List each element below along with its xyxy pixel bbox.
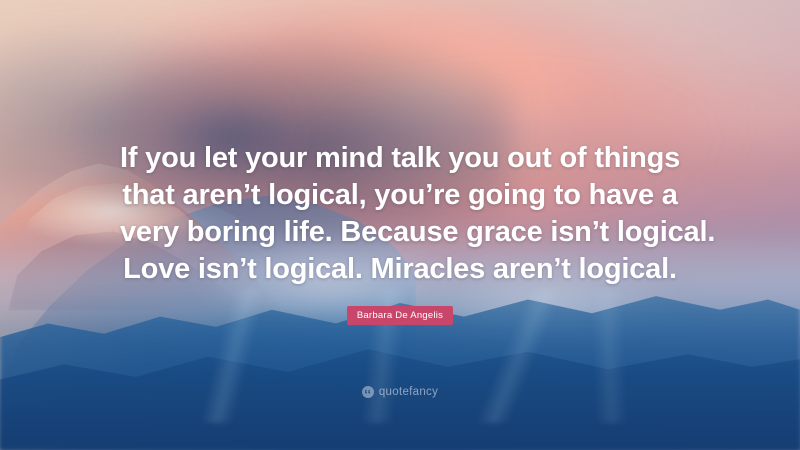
quote-line-4: Love isn’t logical. Miracles aren’t logi… (120, 251, 680, 288)
quote-line-2: that aren’t logical, you’re going to hav… (120, 177, 680, 214)
content-overlay: If you let your mind talk you out of thi… (0, 0, 800, 450)
quotefancy-brand-text: quotefancy (379, 386, 438, 398)
quote-line-3: very boring life. Because grace isn’t lo… (120, 214, 680, 251)
quote-text-block: If you let your mind talk you out of thi… (120, 140, 680, 288)
quote-mark-icon (362, 386, 374, 398)
author-badge-wrapper: Barbara De Angelis (347, 306, 453, 325)
quote-line-1: If you let your mind talk you out of thi… (120, 140, 680, 177)
author-name-badge[interactable]: Barbara De Angelis (347, 306, 453, 325)
quotefancy-watermark[interactable]: quotefancy (0, 386, 800, 398)
wallpaper-canvas: If you let your mind talk you out of thi… (0, 0, 800, 450)
